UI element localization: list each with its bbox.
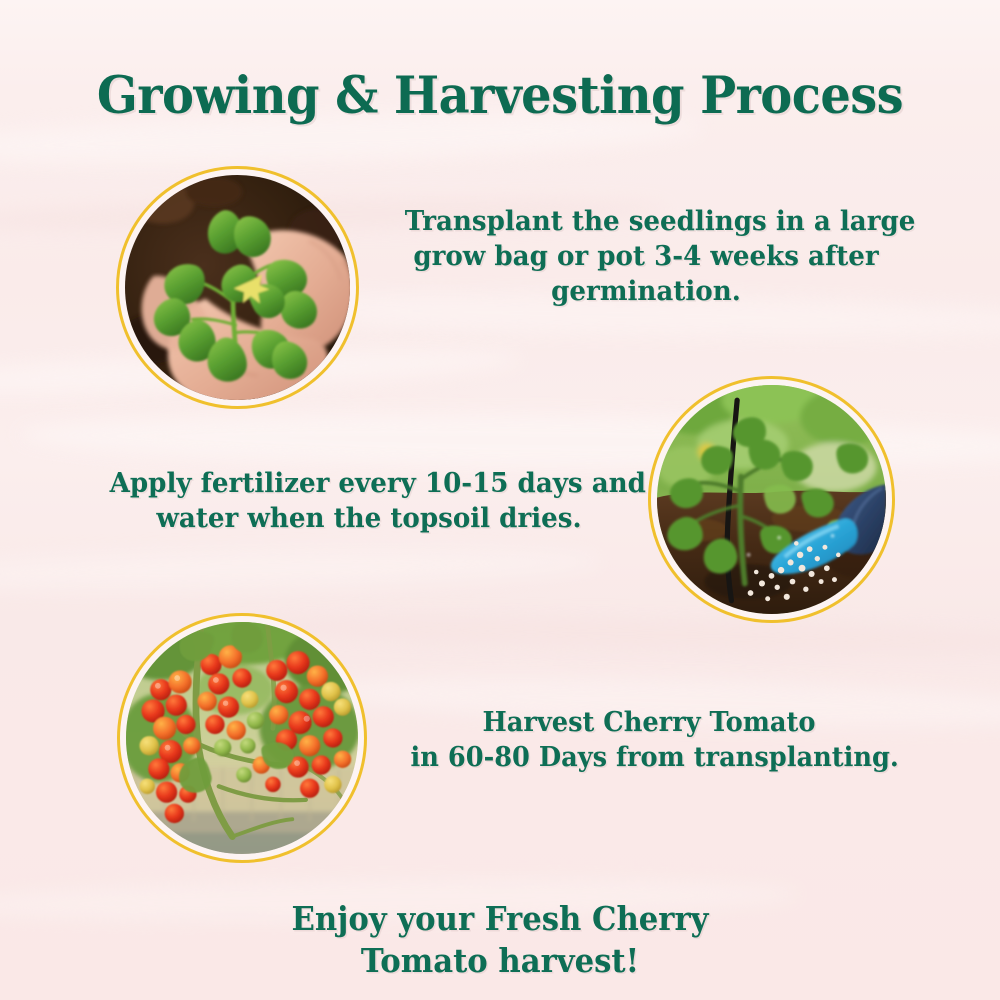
step-2-line: water when the topsoil dries. xyxy=(110,501,629,536)
outro-line: Enjoy your Fresh Cherry xyxy=(249,898,751,940)
step-3-line: in 60-80 Days from transplanting. xyxy=(411,741,888,776)
step-2-image-circle xyxy=(648,376,895,623)
ripe-cherry-tomatoes-on-vine-photo xyxy=(126,622,358,854)
step-3-line: Harvest Cherry Tomato xyxy=(411,706,888,741)
trowel-spreading-fertilizer-photo xyxy=(657,385,886,614)
page-title: Growing & Harvesting Process xyxy=(30,66,970,126)
step-2-text: Apply fertilizer every 10-15 days and wa… xyxy=(110,466,629,536)
outro-text: Enjoy your Fresh Cherry Tomato harvest! xyxy=(249,898,751,982)
step-3-text: Harvest Cherry Tomato in 60-80 Days from… xyxy=(411,706,888,775)
step-1-text: Transplant the seedlings in a large grow… xyxy=(405,204,888,310)
step-1-line: grow bag or pot 3-4 weeks after xyxy=(405,239,888,274)
step-1-line: Transplant the seedlings in a large xyxy=(405,204,888,239)
step-2-line: Apply fertilizer every 10-15 days and xyxy=(110,466,629,501)
outro-line: Tomato harvest! xyxy=(249,940,751,982)
hands-holding-tomato-seedling-photo xyxy=(125,175,350,400)
step-1-line: germination. xyxy=(405,274,888,309)
infographic-poster: Growing & Harvesting Process xyxy=(0,0,1000,1000)
step-3-image-circle xyxy=(117,613,367,863)
step-1-image-circle xyxy=(116,166,359,409)
